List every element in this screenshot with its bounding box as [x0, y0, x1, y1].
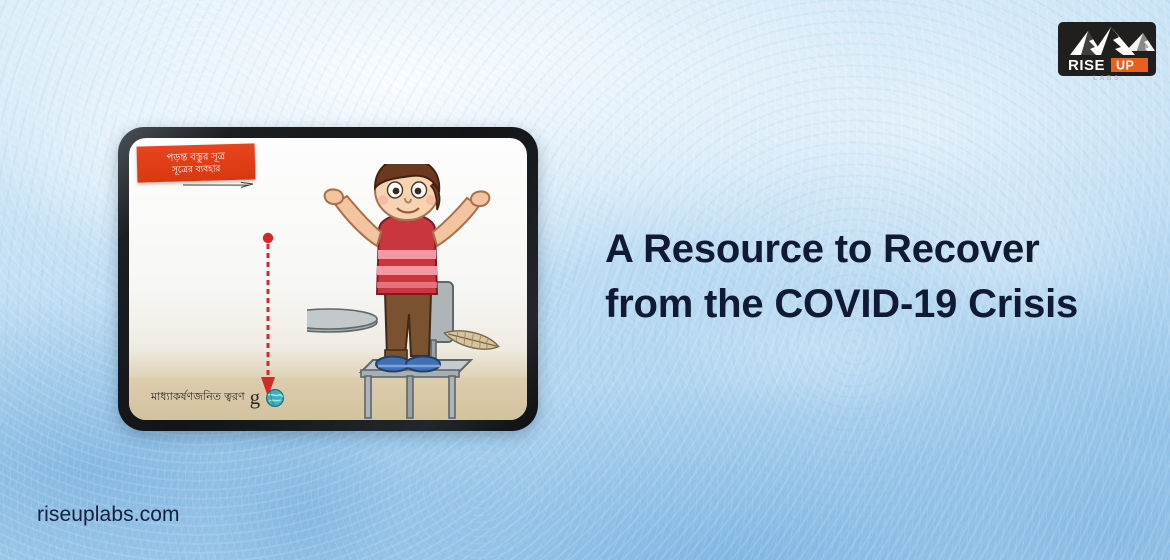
- earth-globe-icon: [265, 388, 285, 408]
- boy-shirt: [377, 214, 437, 294]
- page-title: A Resource to Recover from the COVID-19 …: [605, 222, 1125, 332]
- slide-title-banner: পড়ন্ত বস্তুর সূত্র সূত্রের ব্যবহার: [137, 143, 256, 182]
- slide-caption: মাধ্যাকর্ষণজনিত ত্বরণ g: [151, 387, 285, 408]
- boy-standing-on-chair-illustration: [307, 164, 507, 419]
- tablet-screen: পড়ন্ত বস্তুর সূত্র সূত্রের ব্যবহার: [129, 138, 527, 420]
- website-url[interactable]: riseuplabs.com: [37, 503, 180, 527]
- gravity-symbol: g: [250, 387, 261, 408]
- side-table: [307, 309, 377, 332]
- slide-caption-text: মাধ্যাকর্ষণজনিত ত্বরণ: [151, 388, 245, 407]
- headline-line-2: from the COVID-19 Crisis: [605, 277, 1125, 332]
- slide-title-line2: সূত্রের ব্যবহার: [172, 163, 221, 174]
- promo-banner: ® RISE UP LABS পড়ন্ত বস্তুর সূত্র সূত্র…: [0, 0, 1170, 560]
- logo-text-rise: RISE: [1068, 57, 1105, 74]
- tablet-device-frame: পড়ন্ত বস্তুর সূত্র সূত্রের ব্যবহার: [118, 127, 538, 431]
- riseup-labs-logo[interactable]: ® RISE UP LABS: [1055, 18, 1159, 84]
- boy-head: [375, 164, 440, 220]
- registered-trademark-symbol: ®: [1145, 43, 1151, 51]
- slide-banner-tail: [183, 181, 255, 191]
- logo-text-labs: LABS: [1093, 75, 1121, 82]
- logo-text-up: UP: [1116, 59, 1134, 73]
- falling-object-dashed-arrow: [257, 231, 279, 401]
- headline-line-1: A Resource to Recover: [605, 222, 1125, 277]
- boy-legs: [376, 292, 440, 372]
